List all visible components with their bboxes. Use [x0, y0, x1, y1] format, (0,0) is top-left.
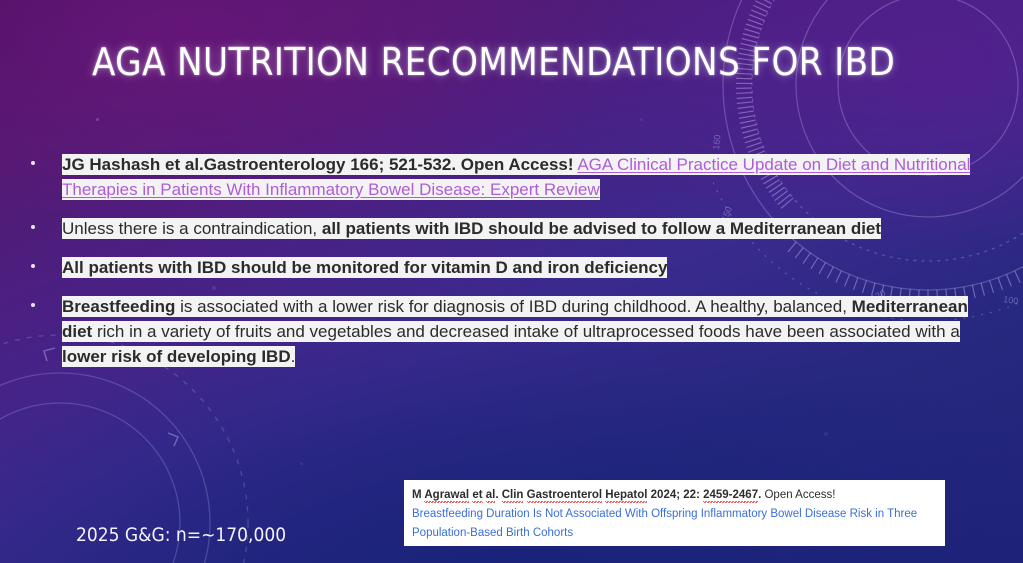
text-run: 2024; 22: [647, 489, 703, 501]
text-run: al [486, 489, 496, 503]
list-item: Breastfeeding is associated with a lower… [22, 294, 972, 369]
bullet-marker [31, 303, 35, 307]
text-run: . [291, 346, 296, 367]
bullet-list: JG Hashash et al.Gastroenterology 166; 5… [22, 152, 972, 383]
text-run: Gastroenterol [527, 489, 602, 503]
text-run: Unless there is a contraindication, [62, 218, 322, 239]
bullet-marker [31, 225, 35, 229]
text-run: et [472, 489, 482, 503]
text-run: Hepatol [605, 489, 647, 503]
text-run: 166; 521-532. Open Access! [345, 154, 573, 175]
text-run: ultraprocessed [583, 321, 695, 342]
citation-card: M Agrawal et al. Clin Gastroenterol Hepa… [404, 480, 945, 546]
svg-text:160: 160 [713, 134, 723, 150]
text-run: foods have been associated with a [694, 321, 960, 342]
citation-link-title[interactable]: Breastfeeding Duration Is Not Associated… [412, 505, 937, 543]
text-run: M [412, 489, 424, 501]
text-run: Agrawal [424, 489, 469, 503]
text-run: rich in a variety of fruits and vegetabl… [92, 321, 582, 342]
text-run: is associated with a lower risk for diag… [175, 296, 851, 317]
slide-canvas: 180 160 150 120 110 100 AGA NUTRITION [0, 0, 1023, 563]
slide-title: AGA NUTRITION RECOMMENDATIONS FOR IBD [92, 40, 895, 84]
text-run: . [495, 489, 501, 501]
text-run: Clin [502, 489, 524, 503]
bullet-marker [31, 264, 35, 268]
bullet-4-text: Breastfeeding is associated with a lower… [62, 294, 972, 369]
text-run: et [165, 154, 180, 175]
bullet-3-text: All patients with IBD should be monitore… [62, 255, 972, 280]
study-note: 2025 G&G: n=~170,000 Breastfeeding is no… [76, 492, 346, 563]
text-run: al.Gastroenterology [185, 154, 346, 175]
text-run: Open Access! [764, 489, 835, 501]
study-note-line-1: 2025 G&G: n=~170,000 [76, 524, 286, 546]
list-item: All patients with IBD should be monitore… [22, 255, 972, 280]
bullet-marker [31, 161, 35, 165]
text-run: Hashash [89, 154, 160, 175]
svg-text:100: 100 [1003, 294, 1019, 306]
text-run: 2459-2467 [703, 489, 758, 503]
text-run: All patients with IBD should be monitore… [62, 257, 667, 278]
list-item: JG Hashash et al.Gastroenterology 166; 5… [22, 152, 972, 202]
text-run: Breastfeeding [62, 296, 175, 317]
bullet-2-text: Unless there is a contraindication, all … [62, 216, 972, 241]
citation-reference: M Agrawal et al. Clin Gastroenterol Hepa… [412, 486, 937, 505]
text-run: all patients with IBD should be advised … [322, 218, 881, 239]
text-run: JG [62, 154, 89, 175]
text-run: lower risk of developing IBD [62, 346, 291, 367]
list-item: Unless there is a contraindication, all … [22, 216, 972, 241]
bullet-1-text: JG Hashash et al.Gastroenterology 166; 5… [62, 152, 972, 202]
